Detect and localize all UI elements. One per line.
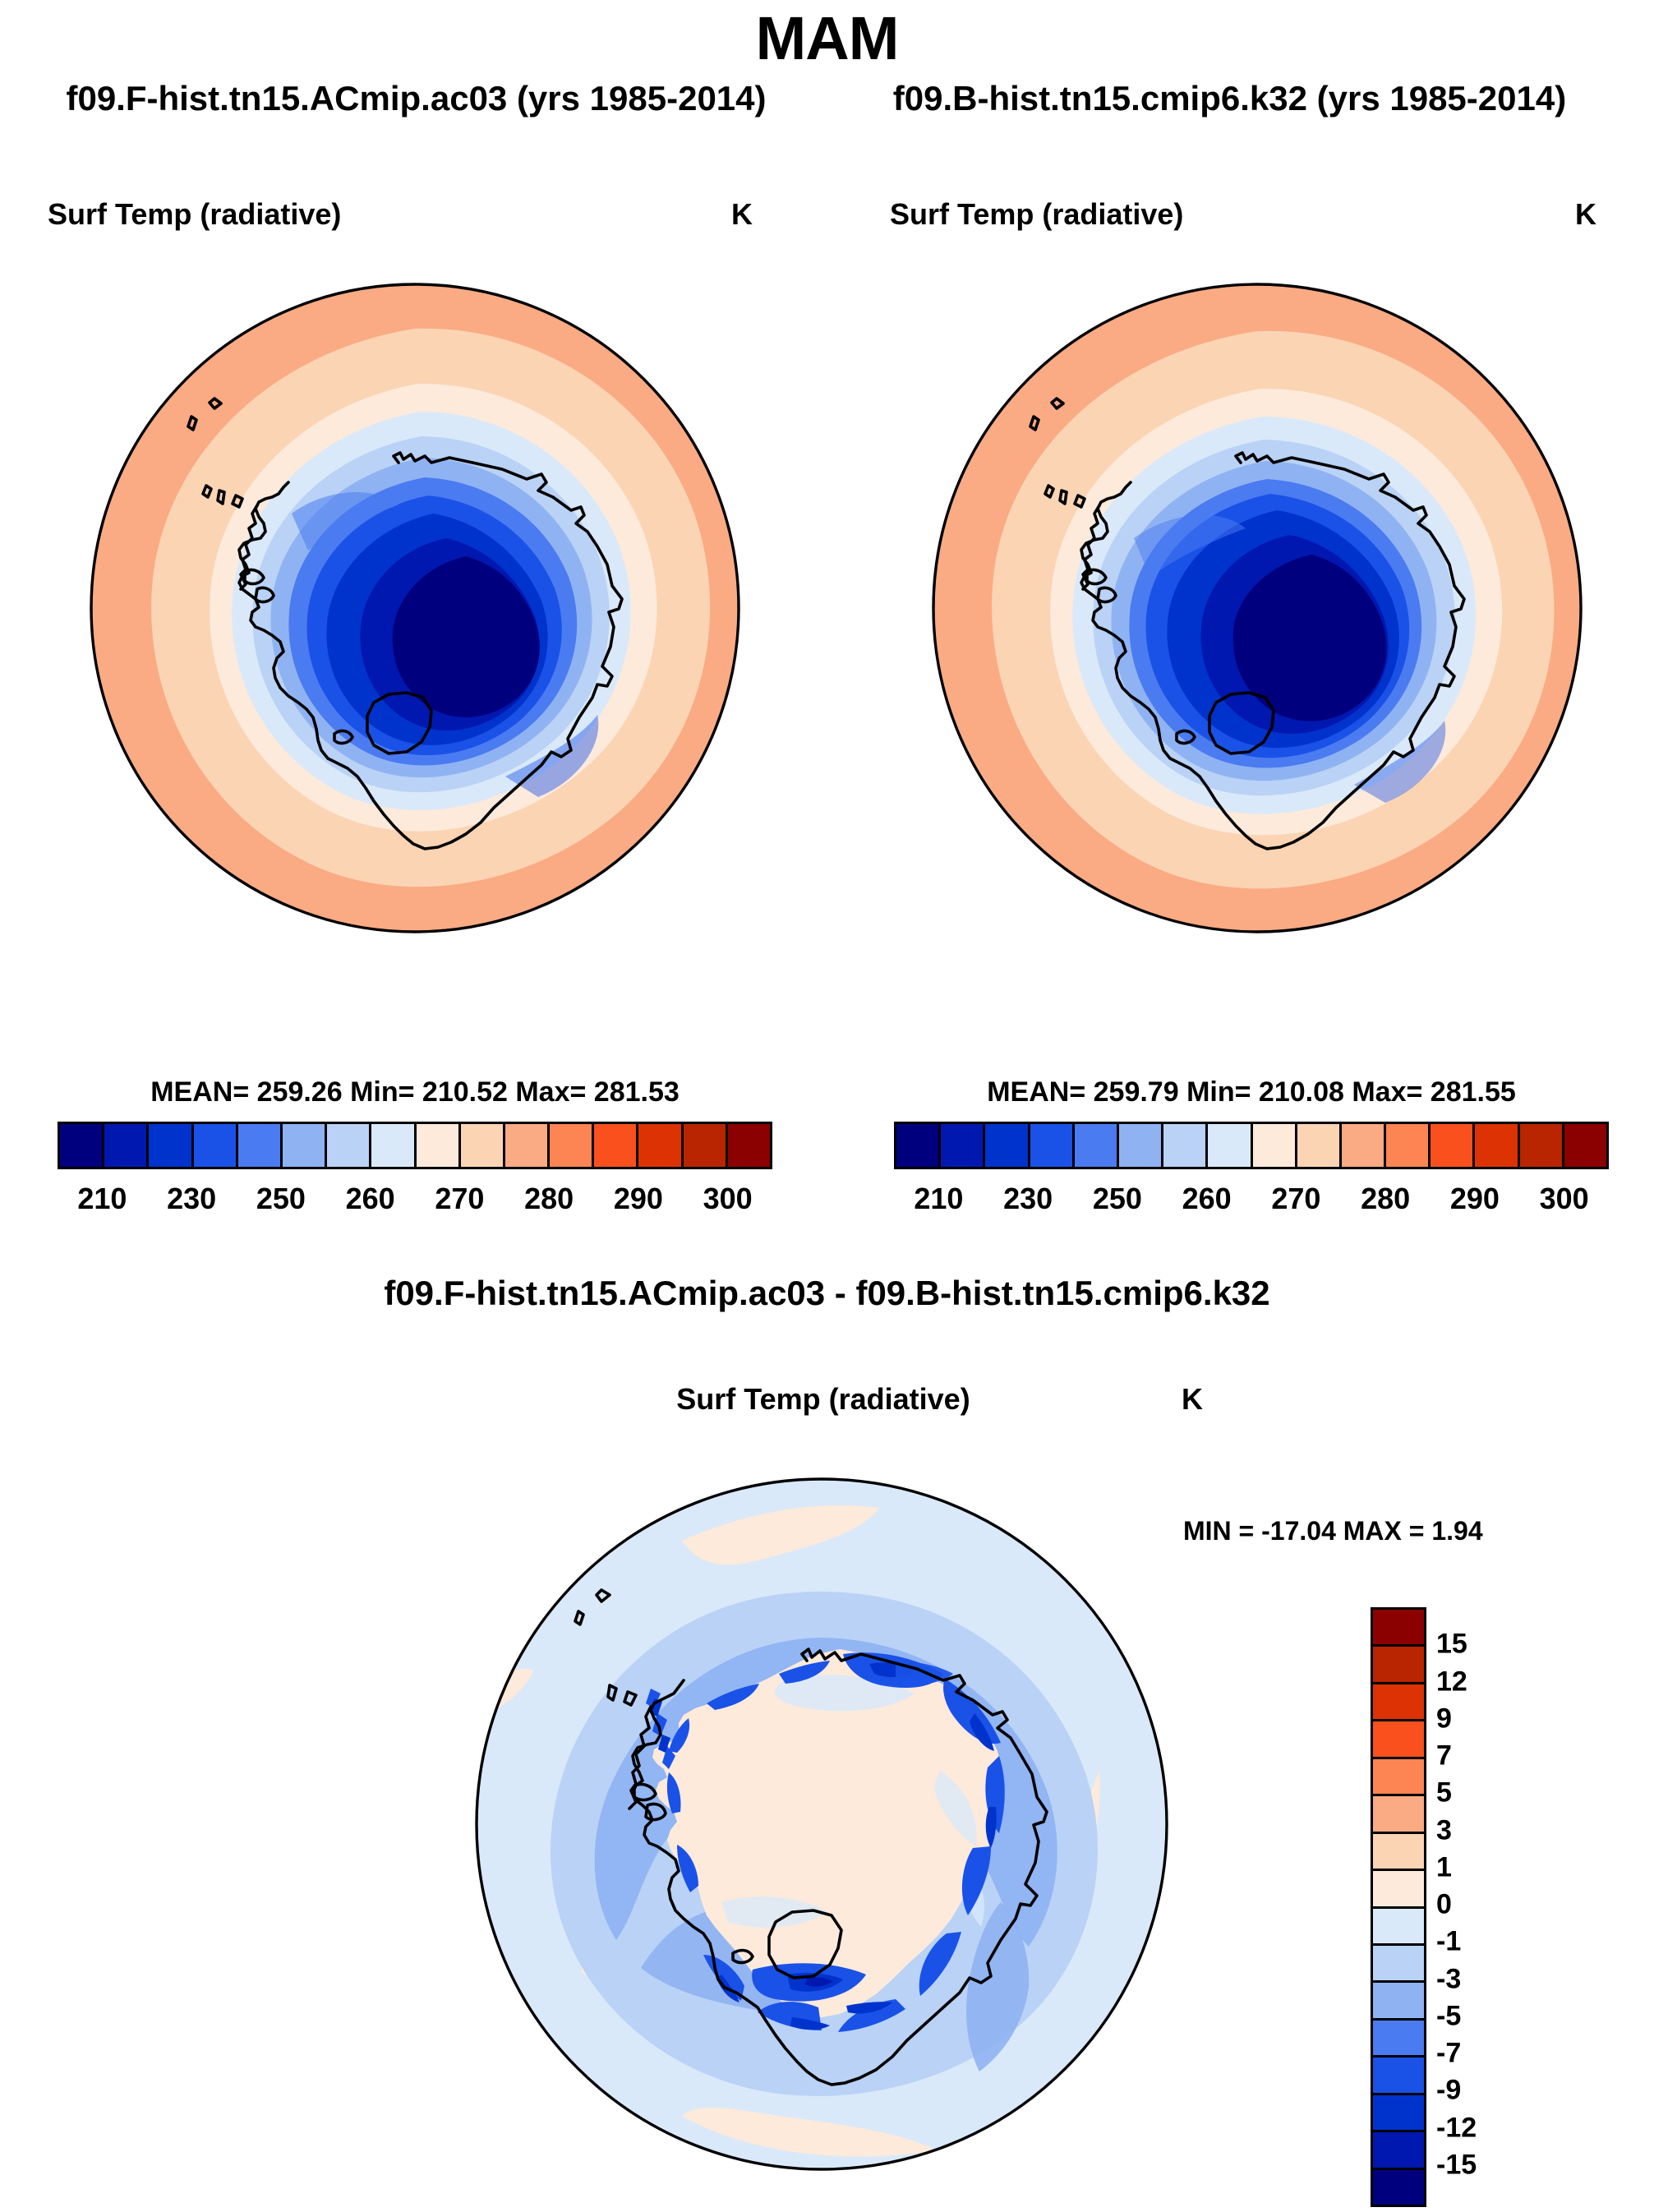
colorbar-cell: [1208, 1124, 1252, 1167]
left-colorbar: [58, 1122, 772, 1169]
colorbar-cell: [1431, 1124, 1475, 1167]
colorbar-cell: [1030, 1124, 1075, 1167]
left-map-antarctica: [45, 267, 785, 949]
case-name-right: f09.B-hist.tn15.cmip6.k32 (yrs 1985-2014…: [819, 79, 1641, 118]
colorbar-tick-label: 3: [1436, 1814, 1452, 1846]
colorbar-cell: [1373, 1796, 1424, 1833]
case-name-left: f09.F-hist.tn15.ACmip.ac03 (yrs 1985-201…: [14, 79, 819, 118]
colorbar-tick-label: 5: [1436, 1777, 1452, 1809]
colorbar-cell: [896, 1124, 941, 1167]
colorbar-tick-label: 230: [1003, 1182, 1053, 1216]
colorbar-cell: [1373, 2058, 1424, 2094]
colorbar-tick-label: 260: [346, 1182, 395, 1216]
colorbar-cell: [461, 1124, 505, 1167]
colorbar-cell: [1373, 1759, 1424, 1796]
colorbar-cell: [238, 1124, 283, 1167]
colorbar-tick-label: 210: [914, 1182, 963, 1216]
colorbar-cell: [1373, 1610, 1424, 1647]
colorbar-cell: [1253, 1124, 1297, 1167]
colorbar-cell: [1075, 1124, 1119, 1167]
colorbar-tick-label: 7: [1436, 1740, 1452, 1772]
right-variable-label: Surf Temp (radiative): [890, 197, 1183, 232]
colorbar-cell: [327, 1124, 371, 1167]
season-title: MAM: [0, 3, 1654, 73]
colorbar-cell: [1373, 1871, 1424, 1908]
colorbar-tick-label: 290: [614, 1182, 663, 1216]
colorbar-tick-label: 260: [1182, 1182, 1232, 1216]
colorbar-tick-label: 12: [1436, 1666, 1467, 1698]
diff-colorbar-ticks: 1512975310-1-3-5-7-9-12-15: [1436, 1607, 1584, 2202]
colorbar-cell: [1475, 1124, 1519, 1167]
colorbar-cell: [1373, 1684, 1424, 1721]
colorbar-cell: [1564, 1124, 1606, 1167]
diff-unit-label: K: [1182, 1382, 1203, 1417]
colorbar-cell: [417, 1124, 461, 1167]
diff-variable-label: Surf Temp (radiative): [676, 1382, 970, 1417]
left-variable-label: Surf Temp (radiative): [48, 197, 341, 232]
colorbar-cell: [1373, 1983, 1424, 2020]
colorbar-cell: [638, 1124, 683, 1167]
colorbar-cell: [283, 1124, 327, 1167]
case-name-row: f09.F-hist.tn15.ACmip.ac03 (yrs 1985-201…: [0, 79, 1654, 118]
colorbar-cell: [1119, 1124, 1163, 1167]
colorbar-cell: [1373, 1721, 1424, 1758]
colorbar-tick-label: 270: [435, 1182, 484, 1216]
diff-min-max: MIN = -17.04 MAX = 1.94: [1183, 1516, 1643, 1546]
right-colorbar-ticks: 210230250260270280290300: [894, 1182, 1609, 1223]
colorbar-tick-label: 230: [167, 1182, 216, 1216]
right-map-antarctica: [887, 267, 1627, 949]
difference-title: f09.F-hist.tn15.ACmip.ac03 - f09.B-hist.…: [0, 1274, 1654, 1313]
colorbar-tick-label: 280: [524, 1182, 574, 1216]
colorbar-cell: [1373, 2095, 1424, 2132]
colorbar-tick-label: -7: [1436, 2038, 1461, 2070]
right-unit-label: K: [1575, 197, 1596, 232]
colorbar-tick-label: -15: [1436, 2149, 1477, 2181]
right-colorbar: [894, 1122, 1609, 1169]
colorbar-tick-label: 250: [256, 1182, 306, 1216]
colorbar-cell: [60, 1124, 104, 1167]
colorbar-tick-label: 0: [1436, 1889, 1452, 1921]
colorbar-cell: [1373, 1834, 1424, 1871]
colorbar-cell: [594, 1124, 638, 1167]
colorbar-tick-label: 280: [1361, 1182, 1410, 1216]
colorbar-cell: [1342, 1124, 1386, 1167]
left-colorbar-ticks: 210230250260270280290300: [58, 1182, 772, 1223]
colorbar-cell: [1373, 1909, 1424, 1946]
colorbar-cell: [1520, 1124, 1564, 1167]
colorbar-tick-label: -3: [1436, 1963, 1461, 1995]
colorbar-tick-label: 15: [1436, 1629, 1467, 1661]
left-unit-label: K: [731, 197, 753, 232]
colorbar-cell: [550, 1124, 594, 1167]
colorbar-tick-label: -1: [1436, 1926, 1461, 1958]
colorbar-cell: [1386, 1124, 1431, 1167]
right-stats: MEAN= 259.79 Min= 210.08 Max= 281.55: [894, 1076, 1609, 1108]
colorbar-tick-label: -5: [1436, 2000, 1461, 2032]
colorbar-cell: [149, 1124, 193, 1167]
colorbar-tick-label: 250: [1093, 1182, 1142, 1216]
colorbar-tick-label: 300: [1540, 1182, 1589, 1216]
colorbar-cell: [505, 1124, 550, 1167]
colorbar-tick-label: 1: [1436, 1851, 1452, 1883]
diff-map-antarctica: [435, 1442, 1208, 2206]
colorbar-tick-label: -9: [1436, 2075, 1461, 2107]
colorbar-cell: [985, 1124, 1030, 1167]
colorbar-cell: [1373, 2132, 1424, 2169]
colorbar-tick-label: 270: [1271, 1182, 1320, 1216]
colorbar-cell: [1373, 1647, 1424, 1684]
colorbar-cell: [194, 1124, 238, 1167]
left-stats: MEAN= 259.26 Min= 210.52 Max= 281.53: [58, 1076, 772, 1108]
colorbar-cell: [1297, 1124, 1342, 1167]
colorbar-tick-label: 300: [703, 1182, 753, 1216]
colorbar-cell: [684, 1124, 728, 1167]
colorbar-cell: [1373, 1946, 1424, 1983]
colorbar-cell: [728, 1124, 770, 1167]
colorbar-cell: [1163, 1124, 1208, 1167]
colorbar-cell: [371, 1124, 416, 1167]
colorbar-tick-label: 9: [1436, 1703, 1452, 1735]
colorbar-cell: [1373, 2170, 1424, 2205]
colorbar-tick-label: -12: [1436, 2112, 1477, 2144]
colorbar-tick-label: 210: [77, 1182, 127, 1216]
colorbar-cell: [1373, 2021, 1424, 2058]
colorbar-tick-label: 290: [1450, 1182, 1500, 1216]
diff-colorbar: [1371, 1607, 1426, 2207]
colorbar-cell: [941, 1124, 985, 1167]
colorbar-cell: [104, 1124, 149, 1167]
